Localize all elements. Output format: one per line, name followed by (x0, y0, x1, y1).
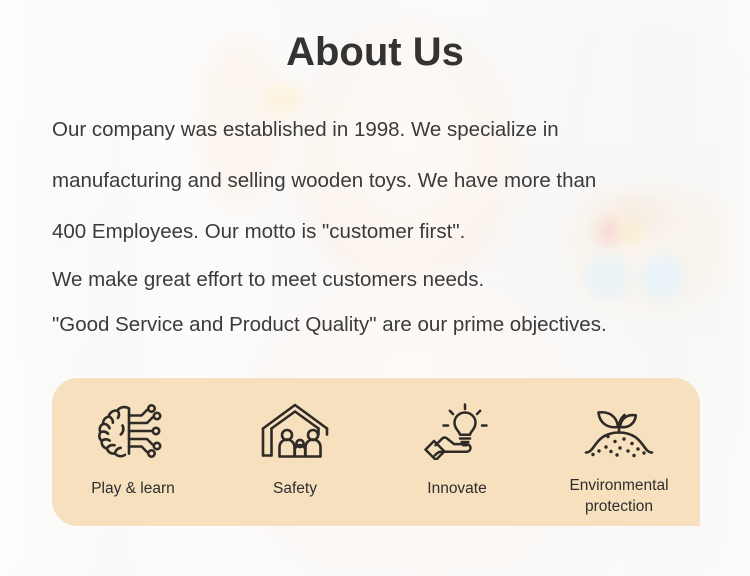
hand-lightbulb-icon (421, 400, 493, 462)
about-paragraph: Our company was established in 1998. We … (52, 104, 718, 347)
about-paragraph-line-5: "Good Service and Product Quality" are o… (52, 302, 718, 347)
feature-item-play-and-learn[interactable]: Play & learn (52, 378, 214, 526)
feature-item-innovate[interactable]: Innovate (376, 378, 538, 526)
house-family-icon (260, 400, 330, 462)
page-title: About Us (0, 28, 750, 76)
feature-label-play-and-learn: Play & learn (91, 478, 175, 499)
about-paragraph-line-2: manufacturing and selling wooden toys. W… (52, 155, 718, 206)
feature-list: Play & learn (52, 378, 700, 526)
about-us-slide: About Us Our company was established in … (0, 0, 750, 576)
sprout-soil-icon (582, 400, 656, 462)
feature-label-safety: Safety (273, 478, 317, 499)
slide-content: About Us Our company was established in … (0, 0, 750, 576)
feature-item-environmental-protection[interactable]: Environmental protection (538, 378, 700, 526)
feature-item-safety[interactable]: Safety (214, 378, 376, 526)
about-paragraph-line-1: Our company was established in 1998. We … (52, 104, 718, 155)
feature-label-environmental-protection: Environmental protection (549, 475, 689, 517)
about-paragraph-line-3: 400 Employees. Our motto is "customer fi… (52, 206, 718, 257)
feature-banner: Play & learn (52, 378, 700, 526)
about-paragraph-line-4: We make great effort to meet customers n… (52, 257, 718, 302)
feature-label-innovate: Innovate (427, 478, 486, 499)
brain-circuit-icon (95, 400, 171, 462)
